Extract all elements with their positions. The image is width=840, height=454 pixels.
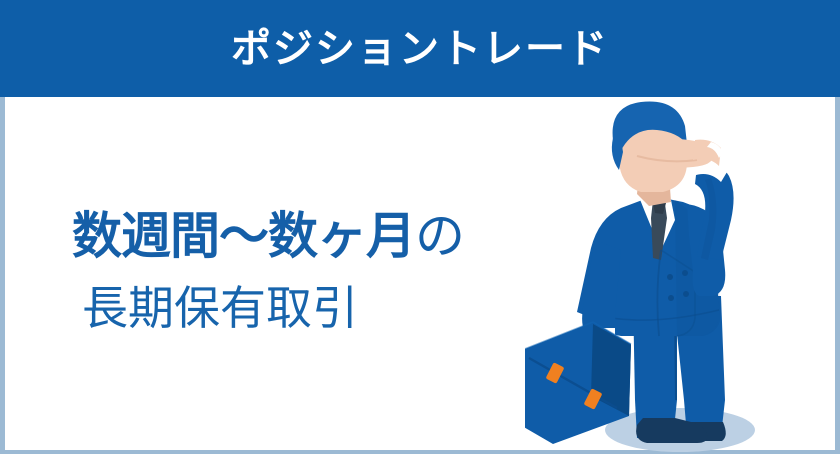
headline-block: 数週間〜数ヶ月の 長期保有取引: [72, 205, 532, 337]
headline-line-1-strong: 数週間〜数ヶ月: [72, 208, 415, 264]
headline-line-2: 長期保有取引: [82, 279, 532, 337]
header-band: ポジショントレード: [0, 0, 840, 97]
page-title: ポジショントレード: [231, 29, 609, 69]
position-trade-banner: ポジショントレード 数週間〜数ヶ月の 長期保有取引: [0, 0, 840, 454]
headline-line-1-light: の: [415, 208, 465, 264]
businessman-illustration: [525, 100, 840, 454]
businessman-icon: [525, 100, 840, 454]
headline-line-1: 数週間〜数ヶ月の: [72, 205, 532, 267]
